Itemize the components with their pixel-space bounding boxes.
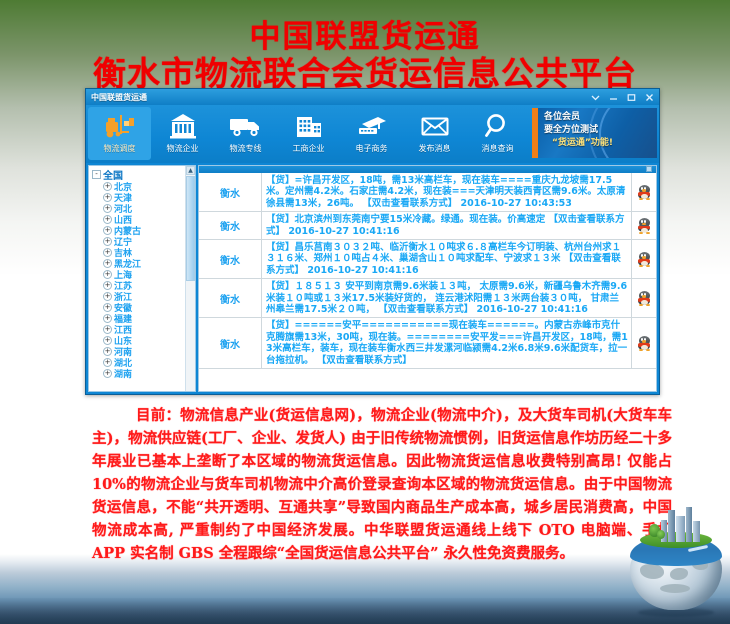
window-titlebar: 中国联盟货运通 <box>86 89 659 105</box>
minimize-icon[interactable] <box>605 90 622 104</box>
dropdown-icon[interactable] <box>587 90 604 104</box>
forklift-icon <box>104 110 136 142</box>
table-header <box>199 166 656 173</box>
toolbar-label: 物流专线 <box>230 143 262 154</box>
application-window: 中国联盟货运通 <box>85 88 660 395</box>
truck-icon <box>229 110 263 142</box>
row-region: 衡水 <box>199 240 262 278</box>
table-row[interactable]: 衡水【货】=许昌开发区，18吨，需13米高栏车，现在装车====重庆九龙坡需17… <box>199 173 656 212</box>
ecommerce-icon <box>356 110 388 142</box>
tree-node-9[interactable]: +江苏 <box>91 280 195 291</box>
tree-scrollbar[interactable]: ▲ <box>185 166 195 391</box>
row-contact-cell[interactable] <box>631 279 656 317</box>
row-contact-cell[interactable] <box>631 212 656 239</box>
row-message: 【货】======安平===========现在装车======。内蒙古赤峰市克… <box>262 318 631 368</box>
envelope-icon <box>419 110 451 142</box>
description-paragraph: 目前：物流信息产业(货运信息网)，物流企业(物流中介)，及大货车司机(大货车车主… <box>92 404 672 565</box>
scroll-thumb[interactable] <box>186 176 195 281</box>
row-region: 衡水 <box>199 279 262 317</box>
close-icon[interactable] <box>641 90 658 104</box>
tree-expand-icon[interactable]: + <box>103 259 112 268</box>
table-row[interactable]: 衡水【货】======安平===========现在装车======。内蒙古赤峰… <box>199 318 656 369</box>
tree-expand-icon[interactable]: + <box>103 314 112 323</box>
tree-node-5[interactable]: +辽宁 <box>91 236 195 247</box>
tree-expand-icon[interactable]: + <box>103 336 112 345</box>
qq-icon[interactable] <box>638 185 651 200</box>
tree-node-4[interactable]: +内蒙古 <box>91 225 195 236</box>
toolbar-item-message-search[interactable]: 消息查询 <box>466 107 529 160</box>
toolbar-item-logistics-companies[interactable]: 物流企业 <box>151 107 214 160</box>
toolbar-item-logistics-dispatch[interactable]: 物流调度 <box>88 107 151 160</box>
toolbar-label: 发布消息 <box>419 143 451 154</box>
row-timestamp: 2016-10-27 10:43:53 <box>457 198 572 209</box>
tree-node-11[interactable]: +安徽 <box>91 302 195 313</box>
tree-expand-icon[interactable]: + <box>103 193 112 202</box>
tree-expand-icon[interactable]: + <box>103 325 112 334</box>
banner-line-2: 要全方位测试 <box>544 124 657 137</box>
city-tower <box>676 516 685 542</box>
toolbar-label: 工商企业 <box>293 143 325 154</box>
globe-landmass <box>640 564 664 579</box>
window-controls <box>587 89 658 105</box>
tree-node-0[interactable]: +北京 <box>91 181 195 192</box>
tree-expand-icon[interactable]: + <box>103 215 112 224</box>
toolbar-label: 电子商务 <box>356 143 388 154</box>
globe-city-graphic <box>624 512 728 616</box>
row-timestamp: 2016-10-27 10:41:16 <box>473 304 588 315</box>
row-region: 衡水 <box>199 173 262 211</box>
tree-node-3[interactable]: +山西 <box>91 214 195 225</box>
tree-expand-icon[interactable]: + <box>103 358 112 367</box>
qq-icon[interactable] <box>638 218 651 233</box>
tree-expand-icon[interactable]: + <box>103 281 112 290</box>
globe-landmass <box>670 568 688 580</box>
row-timestamp: 2016-10-27 10:41:16 <box>304 265 419 276</box>
tree-expand-icon[interactable]: + <box>103 248 112 257</box>
qq-icon[interactable] <box>638 336 651 351</box>
tree-node-root[interactable]: -全国 <box>91 168 195 181</box>
announcement-banner[interactable]: 各位会员 要全方位测试 “货运通”功能! <box>532 108 657 158</box>
tree-expand-icon[interactable]: + <box>103 369 112 378</box>
header-marker <box>646 166 652 172</box>
tree-collapse-icon[interactable]: - <box>92 170 101 179</box>
tree-expand-icon[interactable]: + <box>103 237 112 246</box>
city-tower <box>686 507 692 542</box>
building-icon <box>168 110 198 142</box>
scroll-up-arrow[interactable]: ▲ <box>186 166 195 175</box>
search-icon <box>484 110 512 142</box>
tree-node-12[interactable]: +福建 <box>91 313 195 324</box>
office-icon <box>294 110 324 142</box>
region-tree-panel: -全国+北京+天津+河北+山西+内蒙古+辽宁+吉林+黑龙江+上海+江苏+浙江+安… <box>88 165 196 392</box>
tree-expand-icon[interactable]: + <box>103 347 112 356</box>
tree-expand-icon[interactable]: + <box>103 303 112 312</box>
tree-node-2[interactable]: +河北 <box>91 203 195 214</box>
page-title-line1: 中国联盟货运通 <box>0 20 730 54</box>
toolbar-item-logistics-lines[interactable]: 物流专线 <box>214 107 277 160</box>
row-message: 【货】１８５１３ 安平到南京需9.6米装１３吨， 太原需9.6米，新疆乌鲁木齐需… <box>262 279 631 317</box>
toolbar-label: 物流调度 <box>104 143 136 154</box>
table-row[interactable]: 衡水【货】昌乐莒南３０３２吨、临沂衡水１０吨求６.８高栏车今订明装、杭州台州求１… <box>199 240 656 279</box>
tree-expand-icon[interactable]: + <box>103 204 112 213</box>
toolbar-item-ecommerce[interactable]: 电子商务 <box>340 107 403 160</box>
toolbar-label: 消息查询 <box>482 143 514 154</box>
main-toolbar: 物流调度 物流企业 <box>86 105 659 163</box>
city-tower <box>693 521 700 542</box>
banner-text: 各位会员 要全方位测试 “货运通”功能! <box>538 108 657 150</box>
row-region: 衡水 <box>199 318 262 368</box>
table-body: 衡水【货】=许昌开发区，18吨，需13米高栏车，现在装车====重庆九龙坡需17… <box>199 173 656 391</box>
tree-node-6[interactable]: +吉林 <box>91 247 195 258</box>
page-title-line2: 衡水市物流联合会货运信息公共平台 <box>0 56 730 92</box>
tree-node-7[interactable]: +黑龙江 <box>91 258 195 269</box>
tree-expand-icon[interactable]: + <box>103 292 112 301</box>
city-tower <box>668 510 675 542</box>
city-tree <box>657 530 665 539</box>
application-body: -全国+北京+天津+河北+山西+内蒙古+辽宁+吉林+黑龙江+上海+江苏+浙江+安… <box>88 165 657 392</box>
tree-node-16[interactable]: +湖北 <box>91 357 195 368</box>
globe-landmass <box>660 584 690 593</box>
toolbar-label: 物流企业 <box>167 143 199 154</box>
tree-node-8[interactable]: +上海 <box>91 269 195 280</box>
row-message: 【货】昌乐莒南３０３２吨、临沂衡水１０吨求６.８高栏车今订明装、杭州台州求１３１… <box>262 240 631 278</box>
tree-expand-icon[interactable]: + <box>103 226 112 235</box>
region-tree-list: -全国+北京+天津+河北+山西+内蒙古+辽宁+吉林+黑龙江+上海+江苏+浙江+安… <box>89 166 195 379</box>
row-timestamp: 2016-10-27 10:41:16 <box>285 226 400 237</box>
row-message: 【货】北京滨州到东莞南宁要15米冷藏。绿通。现在装。价高速定 【双击查看联系方式… <box>262 212 631 239</box>
tree-node-17[interactable]: +湖南 <box>91 368 195 379</box>
banner-line-3: “货运通”功能! <box>544 137 657 150</box>
tree-node-13[interactable]: +江西 <box>91 324 195 335</box>
row-contact-cell[interactable] <box>631 240 656 278</box>
banner-line-1: 各位会员 <box>544 111 657 124</box>
qq-icon[interactable] <box>638 291 651 306</box>
toolbar-item-industrial-commercial[interactable]: 工商企业 <box>277 107 340 160</box>
qq-icon[interactable] <box>638 252 651 267</box>
row-contact-cell[interactable] <box>631 318 656 368</box>
tree-node-1[interactable]: +天津 <box>91 192 195 203</box>
row-message: 【货】=许昌开发区，18吨，需13米高栏车，现在装车====重庆九龙坡需17.5… <box>262 173 631 211</box>
tree-expand-icon[interactable]: + <box>103 182 112 191</box>
window-title: 中国联盟货运通 <box>88 92 147 103</box>
toolbar-item-publish-message[interactable]: 发布消息 <box>403 107 466 160</box>
freight-message-table: 衡水【货】=许昌开发区，18吨，需13米高栏车，现在装车====重庆九龙坡需17… <box>198 165 657 392</box>
tree-node-label: 湖南 <box>114 367 132 380</box>
maximize-icon[interactable] <box>623 90 640 104</box>
table-row[interactable]: 衡水【货】１８５１３ 安平到南京需9.6米装１３吨， 太原需9.6米，新疆乌鲁木… <box>199 279 656 318</box>
tree-node-14[interactable]: +山东 <box>91 335 195 346</box>
tree-node-10[interactable]: +浙江 <box>91 291 195 302</box>
table-row[interactable]: 衡水【货】北京滨州到东莞南宁要15米冷藏。绿通。现在装。价高速定 【双击查看联系… <box>199 212 656 240</box>
row-contact-cell[interactable] <box>631 173 656 211</box>
tree-expand-icon[interactable]: + <box>103 270 112 279</box>
tree-node-15[interactable]: +河南 <box>91 346 195 357</box>
row-region: 衡水 <box>199 212 262 239</box>
